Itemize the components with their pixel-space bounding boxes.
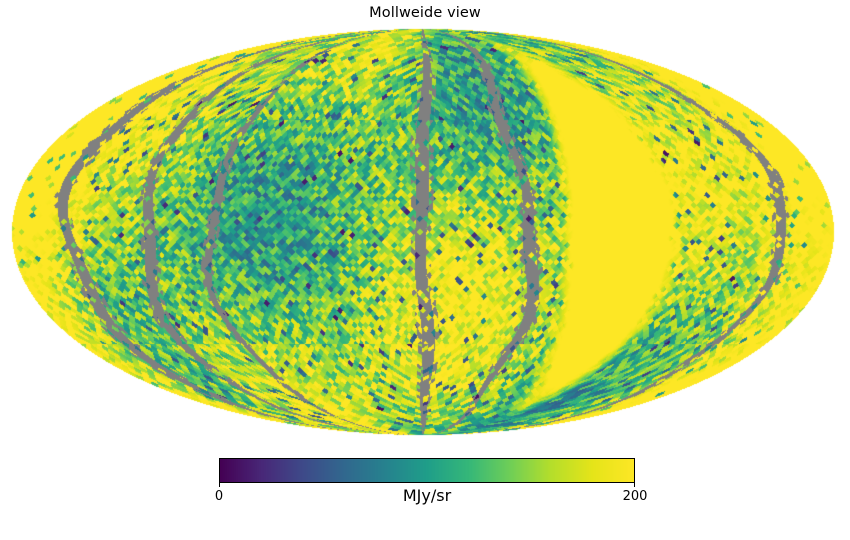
figure-canvas: Mollweide view 0 200 MJy/sr <box>0 0 850 540</box>
colorbar: 0 200 MJy/sr <box>219 458 635 508</box>
colorbar-unit-label: MJy/sr <box>219 486 635 505</box>
colorbar-gradient <box>219 458 635 483</box>
page-title: Mollweide view <box>0 5 850 21</box>
mollweide-projection-canvas <box>0 22 850 446</box>
mollweide-map <box>0 22 850 446</box>
